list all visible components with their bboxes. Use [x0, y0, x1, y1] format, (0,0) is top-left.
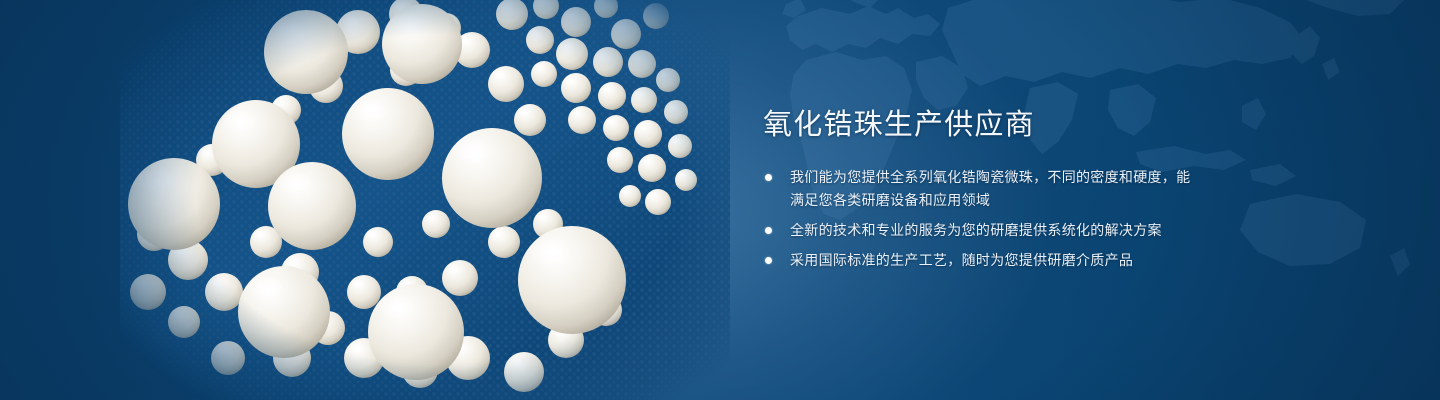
bullet-dot-icon — [765, 174, 772, 181]
hero-banner: 氧化锆珠生产供应商 我们能为您提供全系列氧化锆陶瓷微珠，不同的密度和硬度，能满足… — [0, 0, 1440, 400]
page-title: 氧化锆珠生产供应商 — [763, 108, 1203, 142]
feature-list: 我们能为您提供全系列氧化锆陶瓷微珠，不同的密度和硬度，能满足您各类研磨设备和应用… — [763, 166, 1203, 272]
banner-content: 氧化锆珠生产供应商 我们能为您提供全系列氧化锆陶瓷微珠，不同的密度和硬度，能满足… — [763, 108, 1203, 272]
bullet-dot-icon — [765, 227, 772, 234]
list-item: 采用国际标准的生产工艺，随时为您提供研磨介质产品 — [763, 249, 1203, 272]
bullet-dot-icon — [765, 257, 772, 264]
background-vignette — [0, 0, 1440, 400]
list-item-label: 全新的技术和专业的服务为您的研磨提供系统化的解决方案 — [790, 219, 1203, 242]
list-item: 我们能为您提供全系列氧化锆陶瓷微珠，不同的密度和硬度，能满足您各类研磨设备和应用… — [763, 166, 1203, 212]
list-item: 全新的技术和专业的服务为您的研磨提供系统化的解决方案 — [763, 219, 1203, 242]
list-item-label: 我们能为您提供全系列氧化锆陶瓷微珠，不同的密度和硬度，能满足您各类研磨设备和应用… — [790, 166, 1203, 212]
list-item-label: 采用国际标准的生产工艺，随时为您提供研磨介质产品 — [790, 249, 1203, 272]
